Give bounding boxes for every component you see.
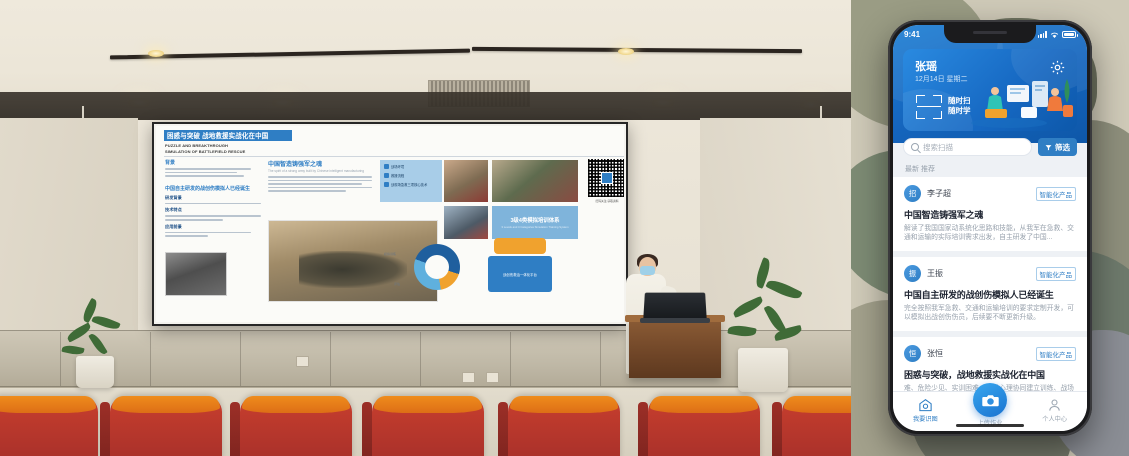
- filter-icon: [1045, 144, 1052, 151]
- avatar: 恒: [904, 345, 921, 362]
- qr-code: [588, 159, 624, 197]
- wainscot-line: [0, 330, 851, 331]
- status-time: 9:41: [904, 30, 920, 39]
- chair-armrest: [772, 402, 782, 456]
- slide-left-sub-3: 应用前景: [165, 224, 261, 230]
- plant-right-foliage: [726, 262, 808, 354]
- platform-top: [494, 238, 546, 254]
- chair-headrest: [650, 396, 758, 413]
- section-label: 最新 推荐: [893, 159, 1087, 177]
- scan-prompt[interactable]: 随时扫 随时学: [948, 96, 971, 116]
- header-illustration: [969, 73, 1073, 129]
- ceiling-downlight: [148, 50, 164, 57]
- banner-subtitle: 3 Levels and 4 Categories Simulation Tra…: [501, 225, 568, 229]
- slide-photo-casualty-2: [492, 160, 578, 202]
- slide-left-heading-1: 背景: [165, 159, 261, 166]
- text-line: [268, 180, 372, 182]
- slide-left-sub-2: 技术特点: [165, 207, 261, 213]
- text-line: [165, 175, 244, 177]
- chair-armrest: [498, 402, 508, 456]
- status-badge: 智能化产品: [1036, 267, 1077, 281]
- podium: [629, 320, 721, 378]
- plant-left-pot: [76, 356, 114, 388]
- card-title: 中国自主研发的战创伤模拟人已经诞生: [904, 288, 1076, 301]
- chair-headrest: [242, 396, 350, 413]
- avatar: 振: [904, 265, 921, 282]
- search-placeholder: 搜索扫描: [923, 142, 953, 153]
- slide-left-sub-1: 研发背景: [165, 195, 261, 201]
- list-item[interactable]: 振 王振 智能化产品 中国自主研发的战创伤模拟人已经诞生 完全按照我军急救、交通…: [893, 257, 1087, 331]
- legend-swatch-icon: [384, 173, 389, 178]
- auditorium-chair: [648, 396, 760, 456]
- camera-fab-button[interactable]: [973, 383, 1007, 417]
- signal-bars-icon: [1038, 31, 1047, 38]
- wainscot-groove: [420, 332, 421, 386]
- wainscot-line: [0, 386, 851, 387]
- slide-left-heading-2: 中国自主研发的战创伤模拟人已经诞生: [165, 185, 261, 192]
- tab-profile[interactable]: 个人中心: [1022, 392, 1087, 423]
- slide-photo-casualty-1: [444, 160, 488, 202]
- chair-armrest: [100, 402, 110, 456]
- qr-logo-icon: [601, 172, 613, 184]
- text-line: [165, 168, 251, 170]
- tab-label: 个人中心: [1042, 414, 1067, 423]
- camera-home-icon: [918, 398, 933, 412]
- text-line: [165, 203, 261, 205]
- auditorium-chair: [0, 396, 98, 456]
- wall-wainscot: [0, 330, 851, 388]
- presentation-screen: 困惑与突破 战地救援实战化在中国 PUZZLE AND BREAKTHROUGH…: [152, 122, 628, 326]
- plant-left-foliage: [62, 300, 126, 362]
- chair-headrest: [510, 396, 618, 413]
- text-line: [165, 215, 261, 217]
- slide-photo-rescue-large: [268, 220, 438, 302]
- leaf: [61, 344, 84, 356]
- qr-caption: 扫码关注 获取资料: [588, 199, 624, 203]
- card-title: 困惑与突破，战地救援实战化在中国: [904, 368, 1076, 381]
- slide-mid-column: 中国智造铸强军之魂 The spirit of a strong army bu…: [268, 159, 372, 194]
- slide-photo-casualty-3: [444, 206, 488, 239]
- avatar: 招: [904, 185, 921, 202]
- phone-notch: [944, 25, 1036, 43]
- home-indicator: [956, 424, 1024, 427]
- leaf: [765, 277, 802, 303]
- text-line: [268, 183, 362, 185]
- wall-outlet: [296, 356, 309, 367]
- chair-headrest: [374, 396, 482, 413]
- leaf: [88, 332, 108, 357]
- chair-headrest: [784, 396, 851, 413]
- slide-content: 困惑与突破 战地救援实战化在中国 PUZZLE AND BREAKTHROUGH…: [156, 126, 624, 322]
- auditorium-chair: [782, 396, 851, 456]
- wainscot-groove: [510, 332, 511, 386]
- phone-mockup: 9:41 张瑶 12月14日 星期二: [888, 20, 1092, 436]
- slide-divider: [164, 156, 624, 157]
- chair-headrest: [112, 396, 220, 413]
- status-indicators: [1038, 31, 1076, 39]
- user-hero-card: 张瑶 12月14日 星期二 随时扫 随时学: [903, 49, 1077, 131]
- chair-headrest: [0, 396, 96, 413]
- speaker-face-mask: [640, 266, 655, 275]
- text-line: [165, 232, 251, 234]
- platform-label: 战创伤救治一体化平台: [503, 272, 537, 277]
- text-line: [165, 219, 223, 221]
- search-row: 搜索扫描 筛选: [903, 138, 1077, 156]
- banner-title: 3级4类模拟培训体系: [510, 216, 559, 224]
- leaf: [731, 296, 764, 318]
- wainscot-groove: [330, 332, 331, 386]
- battery-icon: [1062, 31, 1076, 38]
- slide-training-banner: 3级4类模拟培训体系 3 Levels and 4 Categories Sim…: [492, 206, 578, 239]
- scan-prompt-line2: 随时学: [948, 106, 971, 116]
- status-badge: 智能化产品: [1036, 187, 1077, 201]
- earpiece-speaker: [973, 31, 1007, 34]
- wainscot-groove: [240, 332, 241, 386]
- card-header: 招 李子超 智能化产品: [904, 185, 1076, 202]
- slide-title-en: PUZZLE AND BREAKTHROUGH SIMULATION OF BA…: [165, 143, 245, 154]
- filter-button[interactable]: 筛选: [1038, 138, 1077, 156]
- leaf: [65, 322, 92, 342]
- conference-room-photo: 困惑与突破 战地救援实战化在中国 PUZZLE AND BREAKTHROUGH…: [0, 0, 851, 456]
- legend-item: 救援流程: [384, 173, 442, 178]
- search-icon: [911, 143, 919, 151]
- search-input[interactable]: 搜索扫描: [903, 138, 1032, 156]
- auditorium-chair: [508, 396, 620, 456]
- filter-label: 筛选: [1055, 142, 1070, 153]
- wainscot-groove: [60, 332, 61, 386]
- legend-swatch-icon: [384, 182, 389, 187]
- slide-title-en-line2: SIMULATION OF BATTLEFIELD RESCUE: [165, 149, 245, 155]
- text-line: [268, 190, 346, 192]
- card-header: 恒 张恒 智能化产品: [904, 345, 1076, 362]
- wifi-icon: [1050, 31, 1059, 39]
- section-label-text: 最新 推荐: [905, 164, 935, 174]
- scan-frame-icon[interactable]: [916, 95, 942, 119]
- list-item[interactable]: 招 李子超 智能化产品 中国智造铸强军之魂 解读了我国国家动系统化思路和技能，从…: [893, 177, 1087, 251]
- phone-screen: 9:41 张瑶 12月14日 星期二: [893, 25, 1087, 431]
- leaf: [727, 324, 756, 339]
- wainscot-groove: [600, 332, 601, 386]
- legend-label: 战现场急救三项核心技术: [391, 182, 427, 187]
- status-badge: 智能化产品: [1036, 347, 1077, 361]
- podium-laptop-base: [640, 318, 710, 323]
- slide-mid-heading: 中国智造铸强军之魂: [268, 159, 372, 168]
- text-line: [268, 176, 372, 178]
- person-icon: [1047, 398, 1062, 412]
- chair-armrest: [362, 402, 372, 456]
- card-header: 振 王振 智能化产品: [904, 265, 1076, 282]
- ceiling-downlight: [618, 48, 634, 55]
- card-author: 李子超: [927, 188, 1030, 199]
- legend-label: 战场环境: [391, 164, 404, 169]
- slide-legend: 战场环境 救援流程 战现场急救三项核心技术: [380, 160, 442, 202]
- auditorium-chair: [372, 396, 484, 456]
- slide-donut-chart: [414, 244, 460, 290]
- donut-label-bottom: 评估: [394, 282, 400, 286]
- donut-label-left: 模拟训练: [384, 252, 396, 256]
- slide-platform-graphic: 战创伤救治一体化平台: [488, 238, 552, 294]
- wall-outlet: [486, 372, 499, 383]
- legend-item: 战现场急救三项核心技术: [384, 182, 442, 187]
- plant-right-pot: [738, 348, 788, 392]
- content-list[interactable]: 最新 推荐 招 李子超 智能化产品 中国智造铸强军之魂 解读了我国国家动系统化思…: [893, 159, 1087, 391]
- card-description: 完全按照我军急救、交通和运输培训的要求定制开发，可以模拟出战创伤伤员，后续要不断…: [904, 304, 1076, 322]
- card-author: 王振: [927, 268, 1030, 279]
- text-line: [165, 172, 237, 174]
- camera-icon: [982, 393, 999, 408]
- wall-outlet: [462, 372, 475, 383]
- screenshot-stage: 困惑与突破 战地救援实战化在中国 PUZZLE AND BREAKTHROUGH…: [0, 0, 1129, 456]
- card-title: 中国智造铸强军之魂: [904, 208, 1076, 221]
- auditorium-seating: [0, 396, 851, 456]
- legend-item: 战场环境: [384, 164, 442, 169]
- tab-identify[interactable]: 我要识图: [893, 392, 958, 423]
- auditorium-chair: [110, 396, 222, 456]
- text-line: [165, 235, 208, 237]
- platform-body: 战创伤救治一体化平台: [488, 256, 552, 292]
- slide-title-cn: 困惑与突破 战地救援实战化在中国: [167, 131, 268, 141]
- chair-armrest: [230, 402, 240, 456]
- legend-swatch-icon: [384, 164, 389, 169]
- current-date: 12月14日 星期二: [915, 74, 968, 84]
- card-author: 张恒: [927, 348, 1030, 359]
- slide-mid-heading-en: The spirit of a strong army built by Chi…: [268, 169, 372, 173]
- wainscot-groove: [150, 332, 151, 386]
- slide-historic-photo: [165, 252, 227, 296]
- user-name: 张瑶: [915, 58, 937, 74]
- chair-armrest: [638, 402, 648, 456]
- scan-prompt-line1: 随时扫: [948, 96, 971, 106]
- leaf: [91, 313, 120, 332]
- card-description: 解读了我国国家动系统化思路和技能，从我军在急救、交通和运输的实际培训需求出发，自…: [904, 224, 1076, 242]
- text-line: [268, 187, 372, 189]
- slide-title-banner: 困惑与突破 战地救援实战化在中国: [164, 130, 292, 141]
- tab-label: 我要识图: [913, 414, 938, 423]
- auditorium-chair: [240, 396, 352, 456]
- tab-upload[interactable]: 上传作业: [958, 392, 1023, 427]
- slide-left-column: 背景 中国自主研发的战创伤模拟人已经诞生 研发背景 技术特点 应用前景: [165, 159, 261, 239]
- legend-label: 救援流程: [391, 173, 404, 178]
